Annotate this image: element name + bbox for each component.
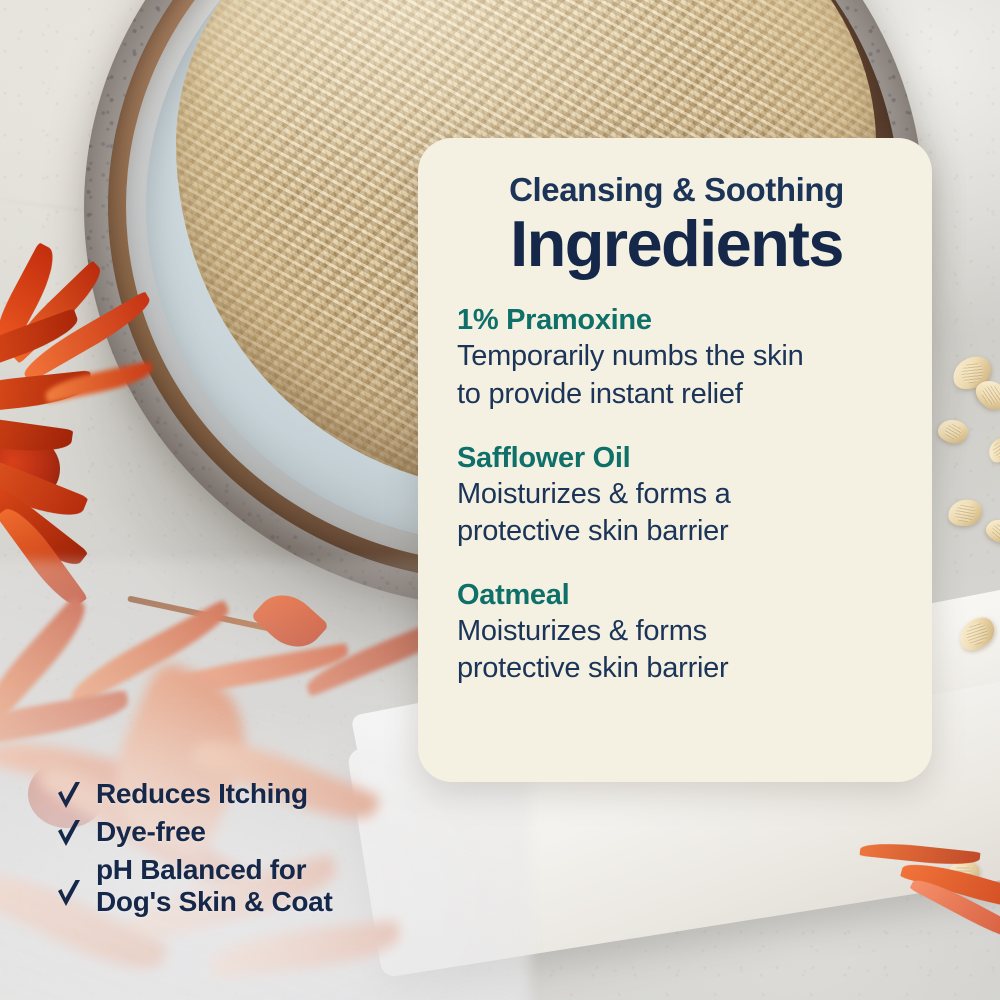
check-icon (56, 878, 82, 912)
ingredient-name: 1% Pramoxine (457, 303, 896, 337)
check-icon (56, 780, 82, 814)
checklist-label: Dye-free (96, 816, 206, 848)
checklist-label: Reduces Itching (96, 778, 308, 810)
ingredient-name: Safflower Oil (457, 441, 896, 475)
checklist-item: Reduces Itching (56, 778, 456, 814)
checklist-label: pH Balanced for Dog's Skin & Coat (96, 854, 332, 919)
ingredients-card: Cleansing & Soothing Ingredients 1% Pram… (418, 138, 932, 782)
check-icon (56, 818, 82, 852)
ingredient-description: Moisturizes & forms a protective skin ba… (457, 476, 896, 550)
ingredient-description: Temporarily numbs the skin to provide in… (457, 338, 896, 412)
ingredient-item: Oatmeal Moisturizes & forms protective s… (457, 578, 896, 687)
product-ingredients-graphic: Cleansing & Soothing Ingredients 1% Pram… (0, 0, 1000, 1000)
checklist-item: Dye-free (56, 816, 456, 852)
benefits-checklist: Reduces Itching Dye-free pH Balanced for… (56, 778, 456, 921)
checklist-item: pH Balanced for Dog's Skin & Coat (56, 854, 456, 919)
page-title: Ingredients (457, 211, 896, 277)
ingredient-list: 1% Pramoxine Temporarily numbs the skin … (457, 303, 896, 687)
card-kicker: Cleansing & Soothing (457, 172, 896, 209)
ingredient-item: Safflower Oil Moisturizes & forms a prot… (457, 441, 896, 550)
ingredient-name: Oatmeal (457, 578, 896, 612)
ingredient-description: Moisturizes & forms protective skin barr… (457, 613, 896, 687)
ingredient-item: 1% Pramoxine Temporarily numbs the skin … (457, 303, 896, 412)
